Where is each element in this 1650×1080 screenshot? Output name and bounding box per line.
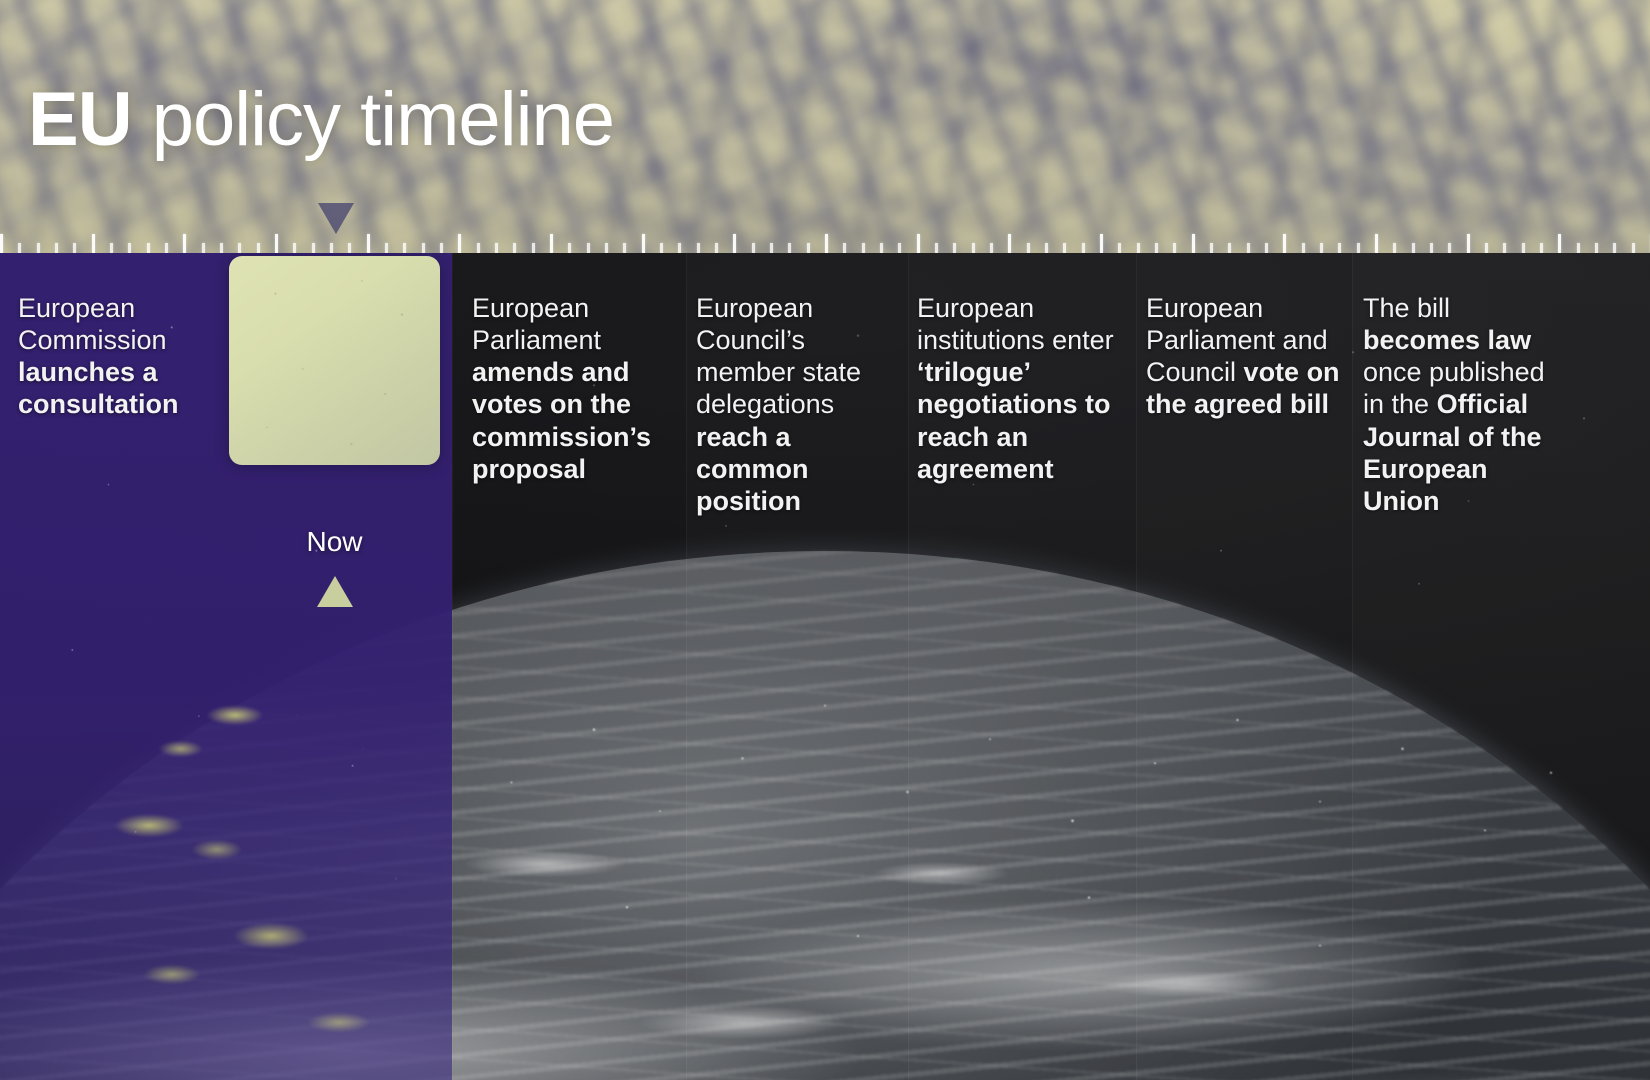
step-text-plain: European Parliament	[472, 293, 601, 355]
triangle-down-icon	[318, 203, 354, 234]
ruler-tick-major	[367, 234, 370, 253]
ruler-tick-minor	[862, 243, 865, 253]
ruler-tick-minor	[477, 243, 480, 253]
ruler-tick-minor	[220, 243, 223, 253]
card-texture	[229, 256, 440, 465]
ruler-tick-major	[1192, 234, 1195, 253]
ruler-tick-minor	[1430, 243, 1433, 253]
ruler-tick-minor	[238, 243, 241, 253]
ruler-tick-minor	[495, 243, 498, 253]
ruler-tick-minor	[1357, 243, 1360, 253]
ruler-tick-minor	[165, 243, 168, 253]
ruler-tick-minor	[257, 243, 260, 253]
triangle-up-icon	[317, 576, 353, 607]
ruler-tick-minor	[623, 243, 626, 253]
step-text-emphasis: reach a common position	[696, 422, 809, 516]
timeline-panel: European Commission launches a consultat…	[0, 253, 1650, 1080]
ruler-tick-minor	[293, 243, 296, 253]
step-text: European Parliament amends and votes on …	[472, 292, 677, 485]
ruler-tick-minor	[1082, 243, 1085, 253]
ruler-tick-major	[1008, 234, 1011, 253]
ruler-tick-minor	[715, 243, 718, 253]
ruler-tick-minor	[880, 243, 883, 253]
step-text-plain: The bill	[1363, 293, 1450, 323]
ruler-tick-major	[733, 234, 736, 253]
ruler-tick-minor	[348, 243, 351, 253]
ruler-tick-minor	[18, 243, 21, 253]
ruler-tick-minor	[1613, 243, 1616, 253]
ruler-tick-minor	[1063, 243, 1066, 253]
step-text-emphasis: ‘trilogue’ negotiations to reach an agre…	[917, 357, 1110, 483]
ruler-tick-major	[92, 234, 95, 253]
ruler-tick-minor	[422, 243, 425, 253]
ruler-tick-major	[1100, 234, 1103, 253]
ruler-tick-minor	[330, 243, 333, 253]
ruler-tick-minor	[953, 243, 956, 253]
ruler-tick-minor	[440, 243, 443, 253]
ruler-tick-minor	[972, 243, 975, 253]
ruler-tick-minor	[752, 243, 755, 253]
now-label: Now	[229, 528, 440, 556]
ruler-tick-minor	[678, 243, 681, 253]
ruler-tick-minor	[1210, 243, 1213, 253]
ruler-tick-minor	[1522, 243, 1525, 253]
ruler-tick-minor	[605, 243, 608, 253]
step-text-emphasis: becomes law	[1363, 325, 1531, 355]
step-text: The bill becomes law once published in t…	[1363, 292, 1568, 517]
ruler-tick-minor	[1448, 243, 1451, 253]
ruler-tick-minor	[403, 243, 406, 253]
ruler-tick-minor	[1338, 243, 1341, 253]
ruler-tick-minor	[1485, 243, 1488, 253]
ruler-tick-major	[917, 234, 920, 253]
ruler-tick-major	[1375, 234, 1378, 253]
ruler-tick-minor	[788, 243, 791, 253]
ruler-tick-major	[825, 234, 828, 253]
ruler-tick-minor	[1577, 243, 1580, 253]
ruler-tick-minor	[1027, 243, 1030, 253]
ruler-tick-minor	[55, 243, 58, 253]
ruler-tick-major	[642, 234, 645, 253]
page-title-bold: EU	[28, 77, 132, 162]
ruler-tick-minor	[1412, 243, 1415, 253]
eu-policy-timeline-infographic: EU policy timeline European Commission l…	[0, 0, 1650, 1080]
ruler-tick-major	[550, 234, 553, 253]
ruler-tick-minor	[110, 243, 113, 253]
ruler-tick-minor	[1228, 243, 1231, 253]
ruler-tick-major	[275, 234, 278, 253]
ruler-tick-minor	[1320, 243, 1323, 253]
ruler-tick-minor	[990, 243, 993, 253]
ruler-tick-minor	[587, 243, 590, 253]
ruler-tick-minor	[697, 243, 700, 253]
ruler-tick-minor	[202, 243, 205, 253]
ruler-tick-major	[183, 234, 186, 253]
ruler-tick-major	[1283, 234, 1286, 253]
step-text-emphasis: launches a consultation	[18, 357, 179, 419]
timeline-ruler	[0, 232, 1650, 253]
ruler-tick-minor	[1302, 243, 1305, 253]
page-title: EU policy timeline	[28, 82, 614, 158]
ruler-tick-major	[1467, 234, 1470, 253]
ruler-tick-minor	[1632, 243, 1635, 253]
ruler-tick-minor	[807, 243, 810, 253]
ruler-tick-minor	[1503, 243, 1506, 253]
ruler-tick-minor	[1393, 243, 1396, 253]
ruler-tick-minor	[1540, 243, 1543, 253]
ruler-tick-minor	[147, 243, 150, 253]
ruler-tick-minor	[1247, 243, 1250, 253]
ruler-tick-major	[458, 234, 461, 253]
ruler-tick-minor	[770, 243, 773, 253]
ruler-tick-minor	[1045, 243, 1048, 253]
ruler-tick-minor	[532, 243, 535, 253]
step-text-plain: European Commission	[18, 293, 167, 355]
ruler-tick-minor	[37, 243, 40, 253]
ruler-tick-minor	[568, 243, 571, 253]
ruler-tick-minor	[1155, 243, 1158, 253]
ruler-tick-minor	[1173, 243, 1176, 253]
step-3-parliament-amends[interactable]: European Parliament amends and votes on …	[472, 253, 677, 1080]
ruler-tick-major	[0, 234, 3, 253]
step-5-trilogue[interactable]: European institutions enter ‘trilogue’ n…	[917, 253, 1127, 1080]
step-text-plain: European Council’s member state delegati…	[696, 293, 861, 419]
step-7-becomes-law[interactable]: The bill becomes law once published in t…	[1363, 253, 1568, 1080]
ruler-tick-minor	[513, 243, 516, 253]
ruler-tick-minor	[73, 243, 76, 253]
step-text-plain: European institutions enter	[917, 293, 1114, 355]
ruler-tick-minor	[1137, 243, 1140, 253]
ruler-tick-minor	[660, 243, 663, 253]
current-step-card[interactable]	[229, 256, 440, 465]
ruler-tick-major	[1558, 234, 1561, 253]
step-text: European Council’s member state delegati…	[696, 292, 896, 517]
ruler-tick-minor	[128, 243, 131, 253]
ruler-tick-minor	[1118, 243, 1121, 253]
step-text: European Commission launches a consultat…	[18, 292, 213, 421]
header-banner: EU policy timeline	[0, 0, 1650, 253]
ruler-tick-minor	[843, 243, 846, 253]
step-6-vote-agreed-bill[interactable]: European Parliament and Council vote on …	[1146, 253, 1341, 1080]
step-4-council-common-position[interactable]: European Council’s member state delegati…	[696, 253, 896, 1080]
step-1-consultation[interactable]: European Commission launches a consultat…	[18, 253, 213, 1080]
page-title-rest: policy timeline	[132, 77, 614, 162]
now-marker: Now	[229, 528, 440, 607]
ruler-tick-minor	[312, 243, 315, 253]
step-text: European institutions enter ‘trilogue’ n…	[917, 292, 1127, 485]
step-text: European Parliament and Council vote on …	[1146, 292, 1341, 421]
step-text-emphasis: amends and votes on the commission’s pro…	[472, 357, 651, 483]
ruler-tick-minor	[385, 243, 388, 253]
ruler-tick-minor	[898, 243, 901, 253]
ruler-tick-minor	[1595, 243, 1598, 253]
ruler-tick-minor	[935, 243, 938, 253]
ruler-tick-minor	[1265, 243, 1268, 253]
